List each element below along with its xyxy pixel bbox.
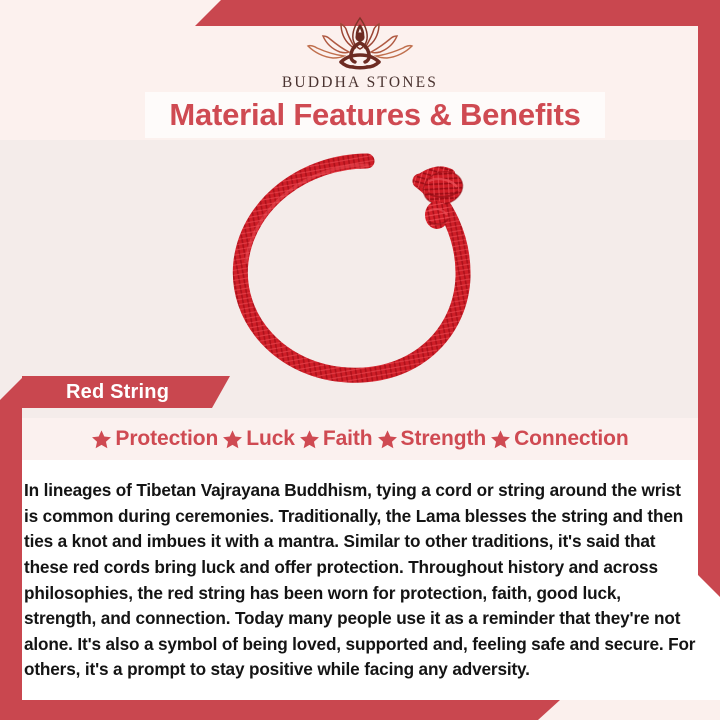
product-name-banner: Red String <box>22 376 230 408</box>
lotus-meditation-icon <box>296 14 424 72</box>
star-icon <box>377 429 398 450</box>
star-icon <box>490 429 511 450</box>
brand-name: BUDDHA STONES <box>282 74 438 92</box>
page-title: Material Features & Benefits <box>169 97 580 133</box>
brand-logo: BUDDHA STONES <box>0 14 720 92</box>
benefit-item-connection: Connection <box>490 427 629 451</box>
product-image <box>150 146 570 390</box>
decorative-bar-left <box>0 378 22 708</box>
benefits-list: Protection Luck Faith Strength Connectio… <box>22 419 698 459</box>
decorative-bar-right <box>698 12 720 597</box>
page-title-band: Material Features & Benefits <box>145 92 605 138</box>
red-string-bracelet-illustration <box>215 143 505 393</box>
star-icon <box>222 429 243 450</box>
benefit-label: Connection <box>514 427 629 451</box>
benefit-label: Protection <box>115 427 218 451</box>
benefit-label: Faith <box>323 427 373 451</box>
benefit-item-faith: Faith <box>299 427 373 451</box>
benefit-label: Strength <box>401 427 487 451</box>
benefit-item-luck: Luck <box>222 427 295 451</box>
star-icon <box>91 429 112 450</box>
product-description: In lineages of Tibetan Vajrayana Buddhis… <box>24 478 696 683</box>
star-icon <box>299 429 320 450</box>
benefit-item-protection: Protection <box>91 427 218 451</box>
decorative-bar-bottom <box>0 700 560 720</box>
product-name: Red String <box>66 381 169 404</box>
benefit-label: Luck <box>246 427 295 451</box>
benefit-item-strength: Strength <box>377 427 487 451</box>
infographic-poster: BUDDHA STONES Material Features & Benefi… <box>0 0 720 720</box>
